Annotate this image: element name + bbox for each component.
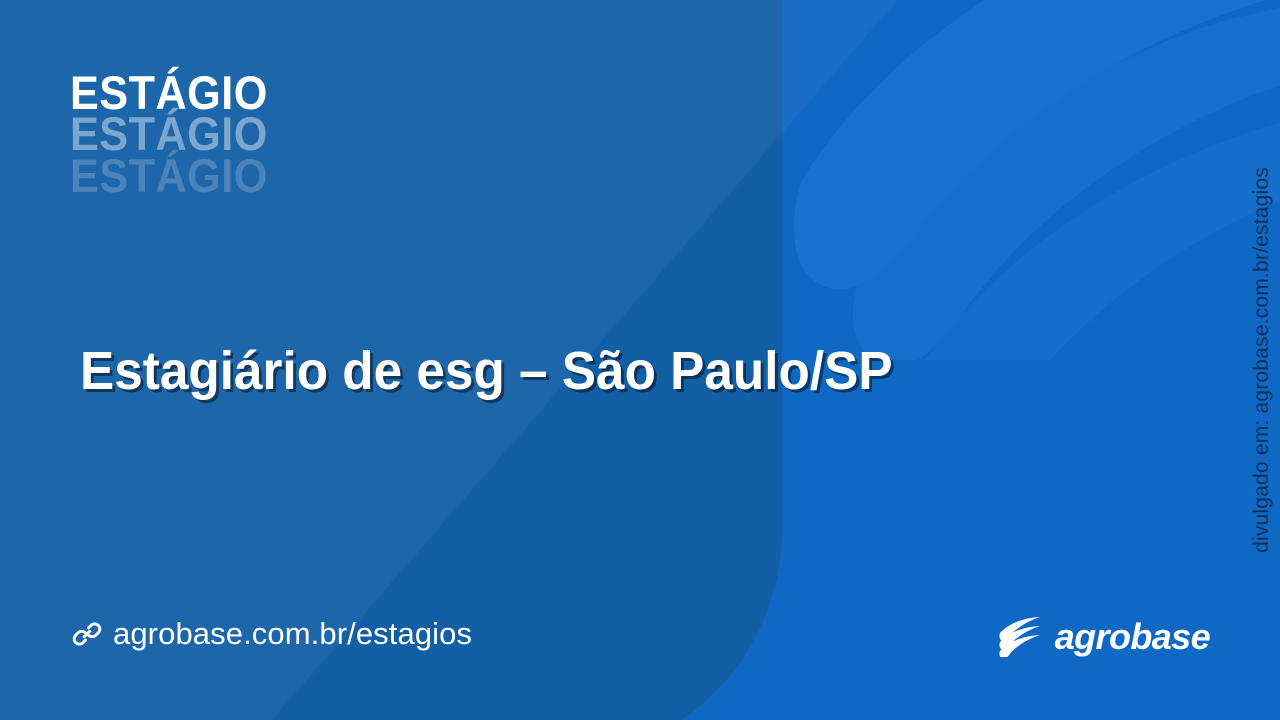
page-title: Estagiário de esg – São Paulo/SP bbox=[80, 342, 893, 400]
estagio-badge-stack: ESTÁGIO ESTÁGIO ESTÁGIO bbox=[70, 72, 285, 196]
job-posting-card: ESTÁGIO ESTÁGIO ESTÁGIO Estagiário de es… bbox=[0, 0, 1280, 720]
brand-logo: agrobase bbox=[994, 616, 1210, 658]
estagio-word-3: ESTÁGIO bbox=[70, 155, 268, 196]
footer-url-row[interactable]: agrobase.com.br/estagios bbox=[72, 616, 472, 652]
agrobase-swoosh-logo-icon bbox=[994, 617, 1046, 657]
footer-url-text: agrobase.com.br/estagios bbox=[113, 616, 472, 652]
side-caption: divulgado em: agrobase.com.br/estagios bbox=[1250, 167, 1274, 553]
link-icon bbox=[72, 619, 102, 649]
brand-name: agrobase bbox=[1055, 616, 1210, 658]
